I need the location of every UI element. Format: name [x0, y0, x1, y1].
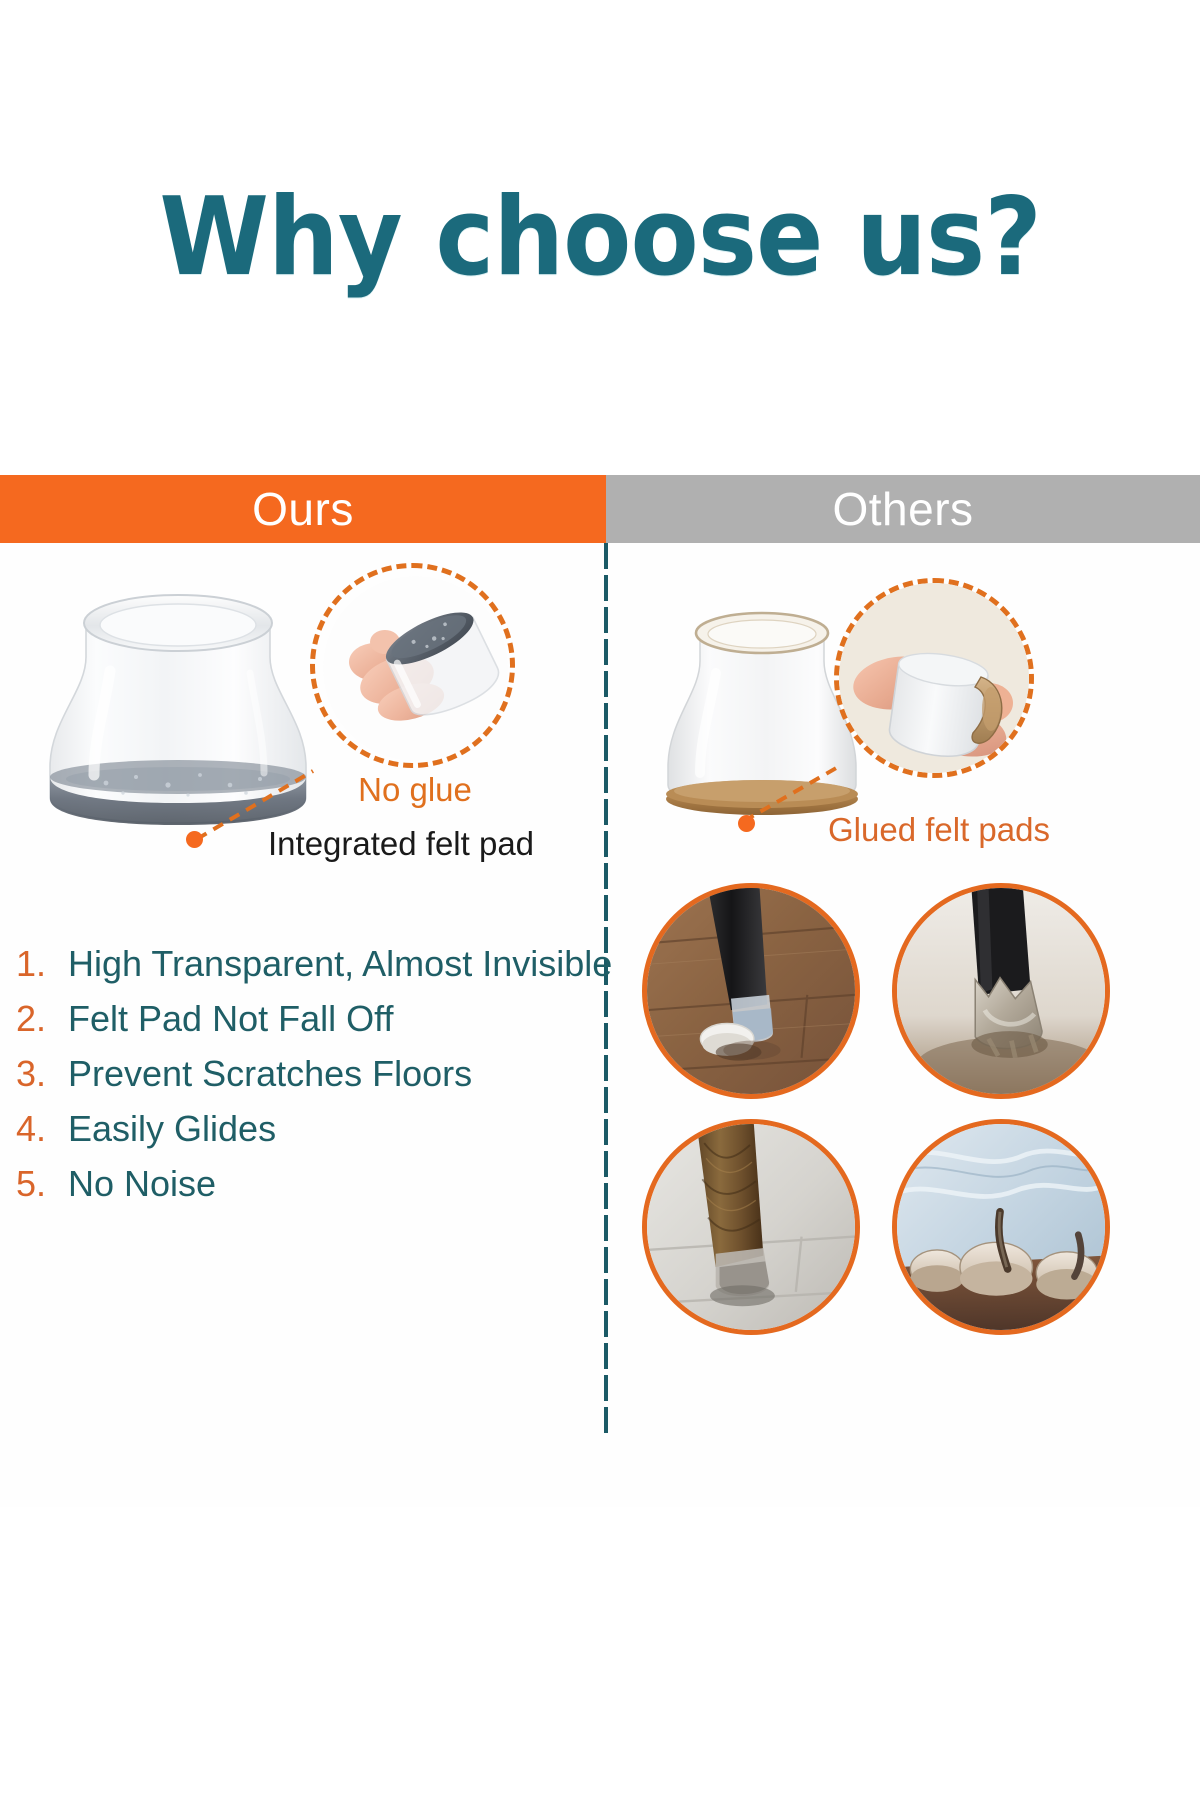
feature-text: Prevent Scratches Floors [68, 1053, 472, 1095]
feature-item: 5. No Noise [16, 1163, 596, 1205]
feature-text: No Noise [68, 1163, 216, 1205]
ours-column: No glue Integrated felt pad 1. High Tran… [0, 543, 604, 1507]
ours-callout-circle [310, 563, 515, 768]
comparison-header-row: Ours Others [0, 475, 1200, 543]
feature-number: 3. [16, 1053, 68, 1095]
ours-product-label: Integrated felt pad [268, 825, 534, 863]
feature-text: High Transparent, Almost Invisible [68, 943, 612, 985]
ours-callout-label: No glue [330, 771, 500, 809]
comparison-body: No glue Integrated felt pad 1. High Tran… [0, 543, 1200, 1507]
feature-item: 1. High Transparent, Almost Invisible [16, 943, 596, 985]
feature-number: 5. [16, 1163, 68, 1205]
ours-feature-list: 1. High Transparent, Almost Invisible 2.… [16, 943, 596, 1218]
comparison-panel: Ours Others [0, 475, 1200, 1507]
column-header-others: Others [606, 475, 1200, 543]
feature-number: 2. [16, 998, 68, 1040]
feature-text: Easily Glides [68, 1108, 276, 1150]
page-title: Why choose us? [159, 175, 1041, 300]
feature-number: 1. [16, 943, 68, 985]
feature-item: 3. Prevent Scratches Floors [16, 1053, 596, 1095]
others-photo-wooden-leg-cap-torn [642, 1119, 860, 1335]
feature-item: 2. Felt Pad Not Fall Off [16, 998, 596, 1040]
others-column: Glued felt pads [604, 543, 1200, 1507]
others-callout-label: Glued felt pads [828, 811, 1050, 849]
feature-number: 4. [16, 1108, 68, 1150]
ours-leader-dot [186, 831, 203, 848]
others-callout-circle [834, 578, 1034, 778]
bottom-whitespace [0, 1507, 1200, 1800]
column-header-ours: Ours [0, 475, 606, 543]
feature-item: 4. Easily Glides [16, 1108, 596, 1150]
title-area: Why choose us? [0, 0, 1200, 475]
others-leader-dot [738, 815, 755, 832]
others-photo-cap-deformed-on-leg [892, 883, 1110, 1099]
others-photo-detached-felt-pads [892, 1119, 1110, 1335]
feature-text: Felt Pad Not Fall Off [68, 998, 393, 1040]
others-photo-black-leg-pad-slipping [642, 883, 860, 1099]
others-photo-grid [604, 883, 1200, 1335]
ours-callout-image [323, 576, 508, 761]
